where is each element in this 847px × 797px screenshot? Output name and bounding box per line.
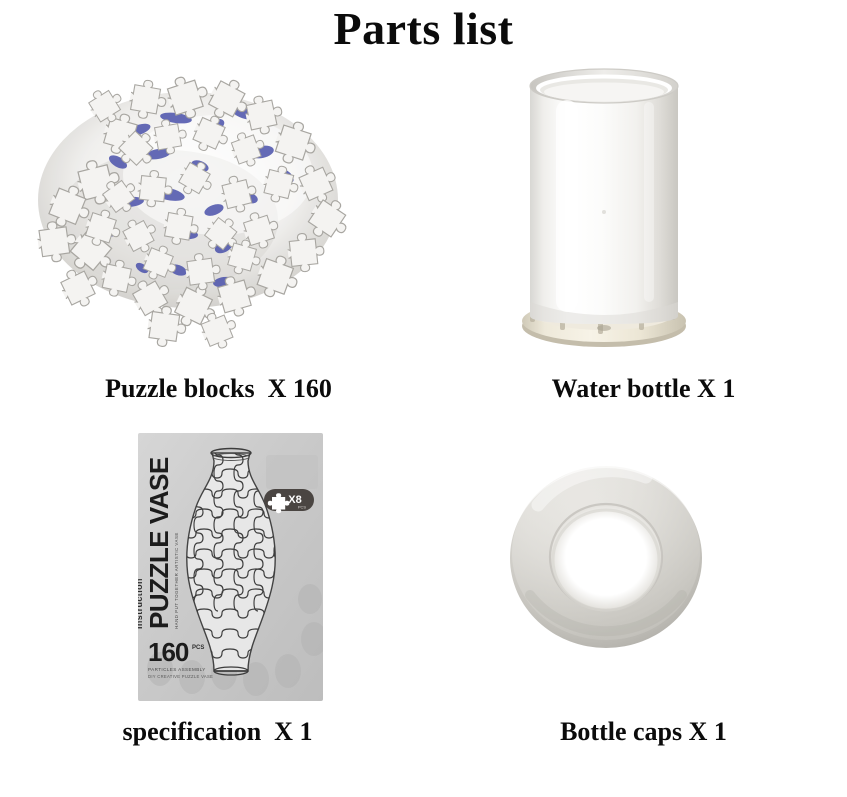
parts-grid: Puzzle blocks X 160 <box>0 62 847 782</box>
specification-booklet-image: Instruction PUZZLE VASE HAND PUT TOGETHE… <box>0 417 423 717</box>
part-item-specification: Instruction PUZZLE VASE HAND PUT TOGETHE… <box>0 417 423 777</box>
booklet-footer-line-1: PARTICLES ASSEMBLY <box>148 667 206 672</box>
booklet-subtitle-text: HAND PUT TOGETHER ARTISTIC VASE <box>174 532 179 629</box>
booklet-badge-sub: PCS <box>298 505 307 510</box>
page-title: Parts list <box>0 2 847 55</box>
booklet-piece-count-unit: PCS <box>192 645 204 651</box>
water-bottle-icon <box>494 62 714 362</box>
booklet-footer-line-2: DIY CREATIVE PUZZLE VASE <box>148 674 213 679</box>
puzzle-blocks-image <box>0 62 423 362</box>
part-item-water-bottle: Water bottle X 1 <box>424 62 847 422</box>
instruction-booklet-icon: Instruction PUZZLE VASE HAND PUT TOGETHE… <box>138 433 323 701</box>
part-item-bottle-caps: Bottle caps X 1 <box>424 417 847 777</box>
part-label-bottle-caps: Bottle caps X 1 <box>424 717 847 747</box>
booklet-piece-badge: X8 PCS <box>264 489 314 513</box>
part-label-specification: specification X 1 <box>0 717 423 747</box>
part-label-water-bottle: Water bottle X 1 <box>424 374 847 404</box>
water-bottle-image <box>424 62 847 362</box>
part-item-puzzle-blocks: Puzzle blocks X 160 <box>0 62 423 422</box>
part-label-puzzle-blocks: Puzzle blocks X 160 <box>0 374 423 404</box>
puzzle-pieces-pile-icon <box>18 70 358 355</box>
bottle-cap-ring-icon <box>496 457 716 657</box>
booklet-title-text: PUZZLE VASE <box>144 457 174 629</box>
booklet-piece-count: 160 <box>148 637 189 667</box>
bottle-caps-image <box>424 417 847 717</box>
